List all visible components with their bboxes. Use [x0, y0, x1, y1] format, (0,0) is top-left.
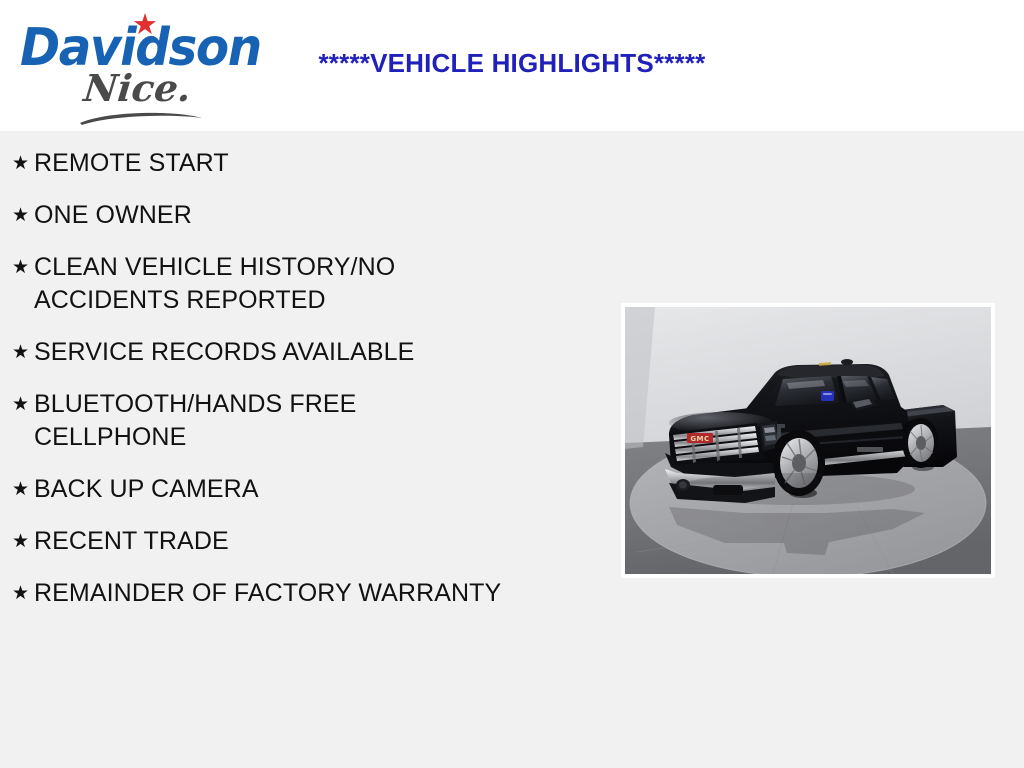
list-item-label: RECENT TRADE — [34, 525, 504, 558]
vehicle-highlights-list: ★ REMOTE START ★ ONE OWNER ★ CLEAN VEHIC… — [0, 131, 560, 629]
list-item-label: REMOTE START — [34, 147, 504, 180]
list-item: ★ ONE OWNER — [0, 199, 560, 232]
list-item-label: REMAINDER OF FACTORY WARRANTY — [34, 577, 504, 610]
list-item-label: BACK UP CAMERA — [34, 473, 504, 506]
list-item-label: SERVICE RECORDS AVAILABLE — [34, 336, 504, 369]
vehicle-highlights-page: Davidson ★ Nice. *****VEHICLE HIGHLIGHTS… — [0, 0, 1024, 768]
list-item: ★ RECENT TRADE — [0, 525, 560, 558]
star-bullet-icon: ★ — [12, 525, 34, 558]
list-item: ★ REMOTE START — [0, 147, 560, 180]
star-bullet-icon: ★ — [12, 336, 34, 369]
list-item: ★ BLUETOOTH/HANDS FREE CELLPHONE — [0, 388, 560, 454]
star-bullet-icon: ★ — [12, 251, 34, 284]
list-item-label: CLEAN VEHICLE HISTORY/NO ACCIDENTS REPOR… — [34, 251, 504, 317]
list-item-label: ONE OWNER — [34, 199, 504, 232]
star-bullet-icon: ★ — [12, 199, 34, 232]
page-header: Davidson ★ Nice. *****VEHICLE HIGHLIGHTS… — [0, 0, 1024, 131]
logo-star-icon: ★ — [131, 11, 159, 39]
star-bullet-icon: ★ — [12, 388, 34, 421]
star-bullet-icon: ★ — [12, 473, 34, 506]
svg-text:GMC: GMC — [690, 435, 709, 443]
star-bullet-icon: ★ — [12, 147, 34, 180]
list-item: ★ SERVICE RECORDS AVAILABLE — [0, 336, 560, 369]
vehicle-photo[interactable]: GMC — [625, 307, 991, 574]
list-item: ★ BACK UP CAMERA — [0, 473, 560, 506]
list-item: ★ CLEAN VEHICLE HISTORY/NO ACCIDENTS REP… — [0, 251, 560, 317]
list-item-label: BLUETOOTH/HANDS FREE CELLPHONE — [34, 388, 504, 454]
star-bullet-icon: ★ — [12, 577, 34, 610]
logo-swoosh-icon — [78, 110, 204, 126]
page-title: *****VEHICLE HIGHLIGHTS***** — [0, 48, 1024, 79]
vehicle-photo-frame: GMC — [621, 303, 995, 578]
list-item: ★ REMAINDER OF FACTORY WARRANTY — [0, 577, 560, 610]
